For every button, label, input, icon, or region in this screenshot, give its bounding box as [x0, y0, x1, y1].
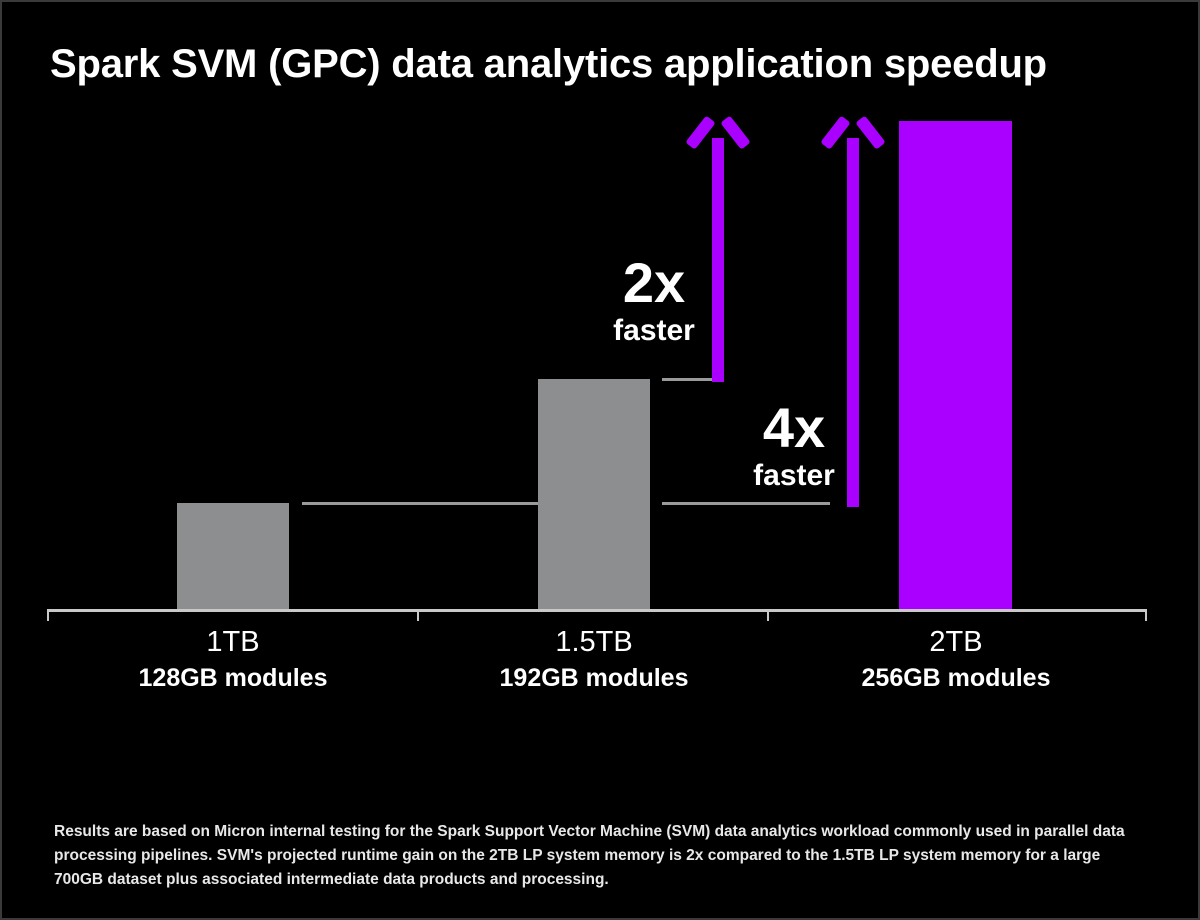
annotation-multiplier: 4x: [704, 400, 884, 456]
category-primary-label: 1.5TB: [494, 624, 694, 660]
guide-line-1tb-left: [302, 502, 538, 505]
bar-1tb: [177, 503, 289, 610]
annotation-2x: 2x faster: [564, 255, 744, 352]
arrow-head-icon: [827, 130, 879, 176]
guide-line-1tb-right: [662, 502, 830, 505]
slide-canvas: Spark SVM (GPC) data analytics applicati…: [0, 0, 1200, 920]
annotation-caption: faster: [704, 456, 884, 497]
axis-tick-1: [417, 609, 419, 621]
category-secondary-label: 128GB modules: [133, 660, 333, 696]
bar-2tb: [899, 121, 1012, 610]
x-tick-label-2tb: 2TB 256GB modules: [856, 624, 1056, 697]
axis-tick-start: [47, 609, 49, 621]
axis-tick-end: [1145, 609, 1147, 621]
category-primary-label: 1TB: [133, 624, 333, 660]
category-secondary-label: 256GB modules: [856, 660, 1056, 696]
x-tick-label-1-5tb: 1.5TB 192GB modules: [494, 624, 694, 697]
arrow-head-icon: [692, 130, 744, 176]
annotation-multiplier: 2x: [564, 255, 744, 311]
category-primary-label: 2TB: [856, 624, 1056, 660]
axis-tick-2: [767, 609, 769, 621]
footnote-text: Results are based on Micron internal tes…: [54, 820, 1146, 892]
bar-1-5tb: [538, 379, 650, 610]
annotation-caption: faster: [564, 311, 744, 352]
x-axis-line: [47, 609, 1147, 612]
chart-plot-area: 2x faster 4x faster 1TB 128GB modules 1.…: [2, 2, 1200, 722]
x-tick-label-1tb: 1TB 128GB modules: [133, 624, 333, 697]
category-secondary-label: 192GB modules: [494, 660, 694, 696]
annotation-4x: 4x faster: [704, 400, 884, 497]
